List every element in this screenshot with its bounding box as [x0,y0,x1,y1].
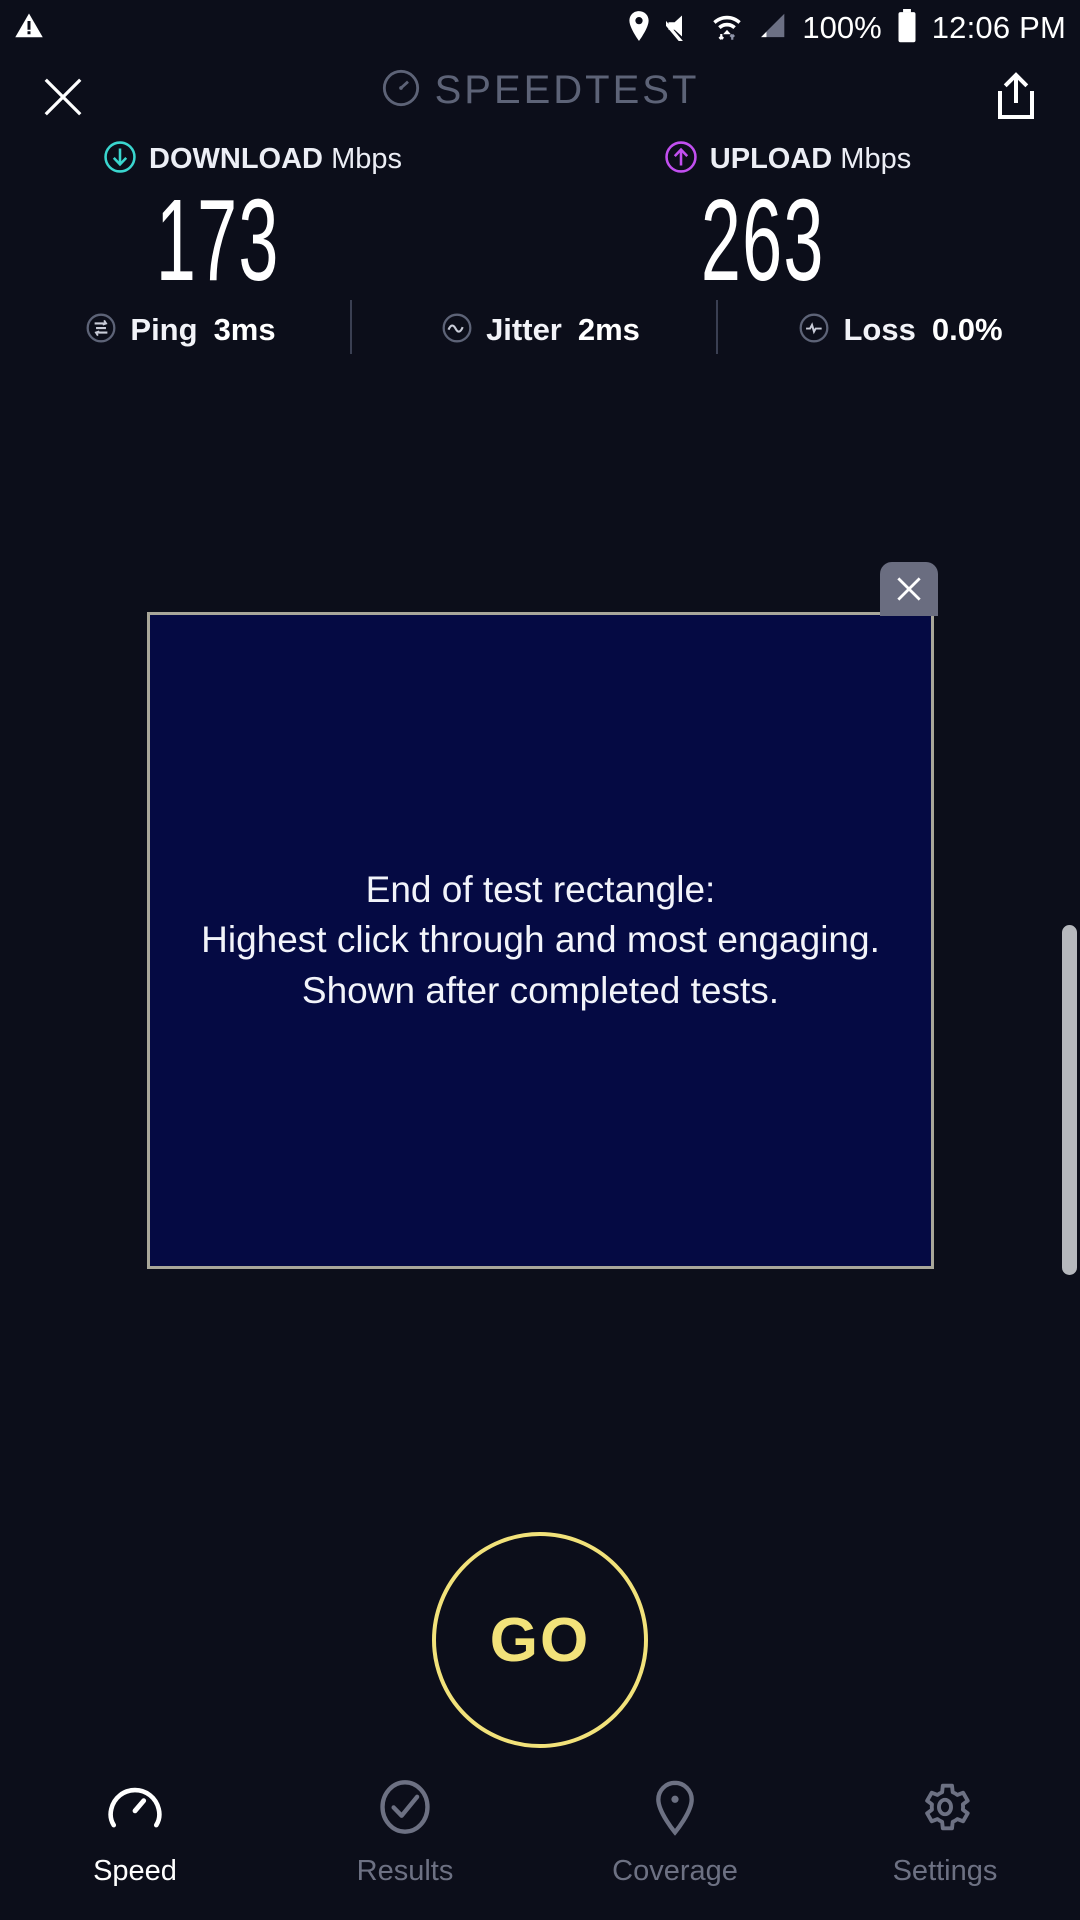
metric-divider-1 [350,300,352,354]
status-bar: 100% 12:06 PM [0,0,1080,56]
metric-jitter: Jitter 2ms [360,311,720,350]
go-button-label: GO [490,1605,590,1676]
nav-label-coverage: Coverage [612,1855,738,1888]
ping-icon [84,311,118,350]
upload-label-group: UPLOAD Mbps [535,140,1080,179]
speedometer-icon [106,1778,164,1841]
warning-triangle-icon [14,11,44,46]
battery-percent-label: 100% [802,10,881,46]
nav-label-speed: Speed [93,1855,177,1888]
app-header: SPEEDTEST [0,56,1080,136]
status-bar-right: 100% 12:06 PM [626,9,1066,48]
nav-label-settings: Settings [893,1855,998,1888]
mute-icon [666,11,698,46]
ping-value: 3ms [214,312,276,348]
bottom-navigation: Speed Results Coverage [0,1760,1080,1920]
upload-arrow-icon [664,140,698,179]
upload-value: 263 [701,182,825,298]
advertisement-banner[interactable]: End of test rectangle: Highest click thr… [147,612,934,1269]
metric-loss: Loss 0.0% [720,311,1080,350]
ping-label: Ping [130,312,197,348]
metric-ping: Ping 3ms [0,311,360,350]
jitter-label: Jitter [486,312,562,348]
result-values-row: 173 263 [0,182,1080,298]
brand-header: SPEEDTEST [0,68,1080,113]
network-metrics-row: Ping 3ms Jitter 2ms Loss 0.0% [0,300,1080,360]
nav-item-settings[interactable]: Settings [810,1760,1080,1920]
upload-label: UPLOAD Mbps [710,143,911,176]
speedtest-app-screen: 100% 12:06 PM SP [0,0,1080,1920]
share-button[interactable] [988,68,1044,126]
result-labels-row: DOWNLOAD Mbps UPLOAD Mbps [0,140,1080,179]
battery-full-icon [896,9,918,48]
page-title: SPEEDTEST [435,68,700,113]
upload-value-group: 263 [545,182,1080,298]
nav-item-results[interactable]: Results [270,1760,540,1920]
loss-label: Loss [843,312,915,348]
status-bar-left [14,11,44,46]
download-label: DOWNLOAD Mbps [149,143,402,176]
jitter-value: 2ms [578,312,640,348]
location-pin-icon [626,10,652,47]
metric-divider-2 [716,300,718,354]
status-bar-time: 12:06 PM [932,10,1066,46]
download-label-group: DOWNLOAD Mbps [0,140,535,179]
nav-label-results: Results [357,1855,454,1888]
location-pin-icon [646,1778,704,1841]
wifi-icon [712,10,742,47]
ad-close-button[interactable] [880,562,938,616]
download-value-group: 173 [0,182,545,298]
speedometer-icon [381,68,421,113]
nav-item-speed[interactable]: Speed [0,1760,270,1920]
loss-icon [797,311,831,350]
ad-text: End of test rectangle: Highest click thr… [201,865,880,1016]
vertical-scrollbar[interactable] [1062,925,1077,1275]
loss-value: 0.0% [932,312,1003,348]
check-circle-icon [376,1778,434,1841]
nav-item-coverage[interactable]: Coverage [540,1760,810,1920]
download-value: 173 [156,182,280,298]
go-button[interactable]: GO [432,1532,648,1748]
download-arrow-icon [103,140,137,179]
jitter-icon [440,311,474,350]
cellular-signal-icon [756,11,788,46]
gear-icon [916,1778,974,1841]
